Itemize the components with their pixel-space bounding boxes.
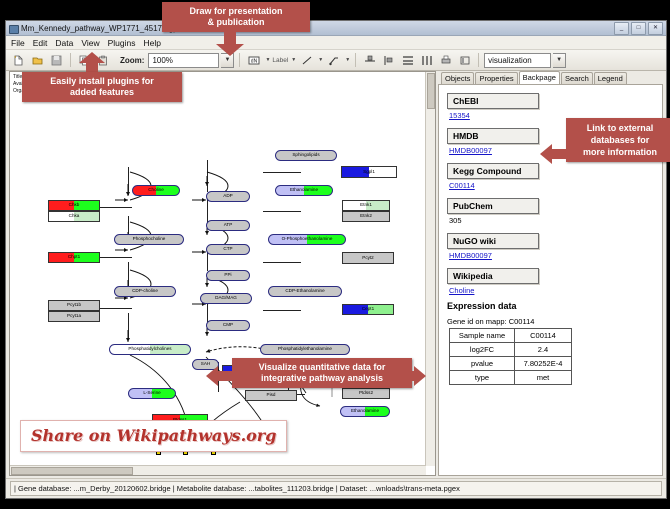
node-label: CDP-choline xyxy=(132,289,158,294)
callout-share-banner: Share on Wikipathways.org xyxy=(20,420,287,452)
callout-link: Link to external databases for more info… xyxy=(566,118,670,162)
callout-draw-arrow xyxy=(215,30,245,61)
chevron-down-icon[interactable]: ▼ xyxy=(291,57,296,63)
menu-item-plugins[interactable]: Plugins xyxy=(108,38,136,48)
scroll-thumb[interactable] xyxy=(427,73,435,109)
node-chpt1[interactable]: Chpt1 xyxy=(48,252,100,263)
node-label: Ethanolamine xyxy=(351,409,379,414)
table-row: Sample name C00114 xyxy=(450,329,572,343)
maximize-button[interactable]: □ xyxy=(631,22,646,35)
callout-plugins-line2: added features xyxy=(28,87,176,98)
minimize-button[interactable]: _ xyxy=(614,22,629,35)
node-label: Pisd xyxy=(267,393,276,398)
status-bar: | Gene database: ...m_Derby_20120602.bri… xyxy=(6,478,666,498)
callout-visualize-line2: integrative pathway analysis xyxy=(238,373,406,384)
menu-item-view[interactable]: View xyxy=(81,38,99,48)
scroll-thumb[interactable] xyxy=(11,467,133,475)
node-chkb[interactable]: Chkb xyxy=(48,200,100,211)
db-header-kegg: Kegg Compound xyxy=(447,163,539,179)
status-text: | Gene database: ...m_Derby_20120602.bri… xyxy=(10,481,662,496)
node-pisd[interactable]: Pisd xyxy=(245,390,297,401)
node-etnk1[interactable]: Etnk1 xyxy=(342,200,390,211)
tab-backpage[interactable]: Backpage xyxy=(519,71,560,84)
node-ptdss2[interactable]: Ptdss2 xyxy=(342,388,390,399)
node-choline-top[interactable]: Choline xyxy=(132,185,180,196)
node-label: ADP xyxy=(223,194,232,199)
callout-draw-line1: Draw for presentation xyxy=(168,6,304,17)
cell-key: Sample name xyxy=(450,329,515,343)
node-o-phosphoethanolamine[interactable]: O-Phosphoethanolamine xyxy=(268,234,346,245)
node-label: Pcyt2 xyxy=(362,256,374,261)
node-label: ATP xyxy=(224,223,233,228)
node-label: PPi xyxy=(224,273,231,278)
callout-link-line2: databases for xyxy=(572,134,668,146)
print-icon[interactable] xyxy=(437,52,454,69)
distribute-vertical-icon[interactable] xyxy=(399,52,416,69)
canvas-horizontal-scrollbar[interactable] xyxy=(10,465,426,475)
zoom-label: Zoom: xyxy=(120,56,144,65)
node-label: Etnk2 xyxy=(360,214,372,219)
node-ethanolamine[interactable]: Ethanolamine xyxy=(275,185,333,196)
node-label: Chpt1 xyxy=(68,255,80,260)
db-header-hmdb: HMDB xyxy=(447,128,539,144)
callout-link-line3: more information xyxy=(572,146,668,158)
node-cdp-ethanolamine[interactable]: CDP-Ethanolamine xyxy=(268,286,342,297)
node-pcyt1a[interactable]: Pcyt1a xyxy=(48,311,100,322)
node-etnk2[interactable]: Etnk2 xyxy=(342,211,390,222)
side-panel-tabs: Objects Properties Backpage Search Legen… xyxy=(438,71,663,84)
callout-share-text: Share on Wikipathways.org xyxy=(31,426,276,445)
node-label: CMP xyxy=(223,323,233,328)
open-folder-icon[interactable] xyxy=(29,52,46,69)
table-row: log2FC 2.4 xyxy=(450,343,572,357)
node-label: Ptdss2 xyxy=(359,391,373,396)
toolbar-separator xyxy=(70,53,71,67)
chevron-down-icon[interactable]: ▼ xyxy=(318,57,323,63)
callout-plugins-line1: Easily install plugins for xyxy=(28,76,176,87)
expression-table: Sample name C00114 log2FC 2.4 pvalue 7.8… xyxy=(449,328,572,385)
pathway-canvas[interactable]: Title: Availability: Organism: xyxy=(9,71,436,476)
tab-properties[interactable]: Properties xyxy=(475,72,517,84)
chevron-down-icon[interactable]: ▼ xyxy=(345,57,350,63)
cell-value: 2.4 xyxy=(515,343,572,357)
line-tool-icon[interactable] xyxy=(298,52,315,69)
callout-link-line1: Link to external xyxy=(572,122,668,134)
save-icon[interactable] xyxy=(48,52,65,69)
distribute-horizontal-icon[interactable] xyxy=(418,52,435,69)
node-label: O-Phosphoethanolamine xyxy=(282,237,333,242)
db-link-wikipedia[interactable]: Choline xyxy=(449,286,662,295)
node-atp[interactable]: ATP xyxy=(206,220,250,231)
callout-draw: Draw for presentation & publication xyxy=(162,2,310,32)
align-left-icon[interactable] xyxy=(380,52,397,69)
cell-key: type xyxy=(450,371,515,385)
node-label: L-Serine xyxy=(143,391,160,396)
node-label: Chkb xyxy=(69,203,80,208)
table-row: pvalue 7.80252E-4 xyxy=(450,357,572,371)
node-phosphatidylethanolamine[interactable]: Phosphatidylethanolamine xyxy=(260,344,350,355)
gene-id-line: Gene id on mapp: C00114 xyxy=(447,317,662,326)
menu-bar: File Edit Data View Plugins Help xyxy=(6,36,666,50)
canvas-vertical-scrollbar[interactable] xyxy=(425,72,435,466)
svg-text:dN: dN xyxy=(251,58,258,64)
node-label: DAG/MAG xyxy=(215,296,237,301)
node-cdp-choline[interactable]: CDP-choline xyxy=(114,286,176,297)
label-dropdown-label[interactable]: Label xyxy=(272,57,288,64)
node-phosphatidylcholines[interactable]: Phosphatidylcholines xyxy=(109,344,191,355)
node-label: Choline xyxy=(148,188,164,193)
window-controls: _ □ ✕ xyxy=(614,22,663,35)
interaction-tool-icon[interactable] xyxy=(325,52,342,69)
new-document-icon[interactable] xyxy=(10,52,27,69)
tab-legend[interactable]: Legend xyxy=(594,72,627,84)
layout-icon[interactable] xyxy=(456,52,473,69)
node-ctp[interactable]: CTP xyxy=(206,244,250,255)
menu-item-edit[interactable]: Edit xyxy=(33,38,48,48)
callout-visualize: Visualize quantitative data for integrat… xyxy=(232,358,412,388)
callout-visualize-line1: Visualize quantitative data for xyxy=(238,362,406,373)
app-icon xyxy=(9,24,18,33)
node-label: Sphingolipids xyxy=(292,153,319,158)
node-label: Pcyt1b xyxy=(67,303,81,308)
visualization-select[interactable]: visualization xyxy=(484,53,551,68)
node-label: Sgpl1 xyxy=(363,170,375,175)
callout-visualize-arrow-left xyxy=(206,365,234,392)
cell-value: 7.80252E-4 xyxy=(515,357,572,371)
close-button[interactable]: ✕ xyxy=(648,22,663,35)
title-bar: Mm_Kennedy_pathway_WP1771_45176.gpml _ □… xyxy=(6,21,666,36)
align-top-icon[interactable] xyxy=(361,52,378,69)
db-header-nugo: NuGO wiki xyxy=(447,233,539,249)
node-label: Etnk1 xyxy=(360,203,372,208)
callout-plugins: Easily install plugins for added feature… xyxy=(22,72,182,102)
screenshot-root: Mm_Kennedy_pathway_WP1771_45176.gpml _ □… xyxy=(0,0,670,509)
node-chka[interactable]: Chka xyxy=(48,211,100,222)
toolbar-separator xyxy=(355,53,356,67)
menu-item-file[interactable]: File xyxy=(11,38,25,48)
node-pcyt2[interactable]: Pcyt2 xyxy=(342,252,394,264)
visualization-dropdown-icon[interactable]: ▼ xyxy=(553,53,566,68)
node-sphingolipids[interactable]: Sphingolipids xyxy=(275,150,337,161)
db-value-pubchem: 305 xyxy=(449,216,662,225)
node-cmp[interactable]: CMP xyxy=(206,320,250,331)
cell-value: C00114 xyxy=(515,329,572,343)
menu-item-data[interactable]: Data xyxy=(55,38,73,48)
node-ppi[interactable]: PPi xyxy=(206,270,250,281)
tab-objects[interactable]: Objects xyxy=(441,72,474,84)
callout-link-arrow xyxy=(540,143,568,170)
db-header-chebi: ChEBI xyxy=(447,93,539,109)
db-link-nugo[interactable]: HMDB00097 xyxy=(449,251,662,260)
node-label: Cept1 xyxy=(362,307,374,312)
node-label: Pcyt1a xyxy=(67,314,81,319)
datanode-icon[interactable]: dN xyxy=(245,52,262,69)
table-row: type met xyxy=(450,371,572,385)
node-label: Phosphocholine xyxy=(133,237,166,242)
node-cept1[interactable]: Cept1 xyxy=(342,304,394,315)
zoom-input[interactable]: 100% xyxy=(148,53,219,68)
node-dagmag[interactable]: DAG/MAG xyxy=(200,293,252,304)
node-adp[interactable]: ADP xyxy=(206,191,250,202)
cell-value: met xyxy=(515,371,572,385)
node-label: Chka xyxy=(69,214,80,219)
db-link-kegg[interactable]: C00114 xyxy=(449,181,662,190)
node-ethanolamine-bottom[interactable]: Ethanolamine xyxy=(340,406,390,417)
chevron-down-icon[interactable]: ▼ xyxy=(265,57,270,63)
menu-item-help[interactable]: Help xyxy=(144,38,161,48)
node-phosphocholine[interactable]: Phosphocholine xyxy=(114,234,184,245)
callout-draw-line2: & publication xyxy=(168,17,304,28)
toolbar-separator xyxy=(478,53,479,67)
cell-key: log2FC xyxy=(450,343,515,357)
node-label: CDP-Ethanolamine xyxy=(285,289,324,294)
cell-key: pvalue xyxy=(450,357,515,371)
node-label: Ethanolamine xyxy=(290,188,318,193)
node-label: Phosphatidylcholines xyxy=(128,347,171,352)
node-label: Phosphatidylethanolamine xyxy=(278,347,332,352)
db-header-pubchem: PubChem xyxy=(447,198,539,214)
node-l-serine-left[interactable]: L-Serine xyxy=(128,388,176,399)
node-label: CTP xyxy=(223,247,232,252)
tab-search[interactable]: Search xyxy=(561,72,593,84)
callout-visualize-arrow-right xyxy=(398,365,426,392)
node-pcyt1b[interactable]: Pcyt1b xyxy=(48,300,100,311)
db-header-wikipedia: Wikipedia xyxy=(447,268,539,284)
node-sgpl1[interactable]: Sgpl1 xyxy=(341,166,397,178)
expression-data-heading: Expression data xyxy=(447,301,662,311)
